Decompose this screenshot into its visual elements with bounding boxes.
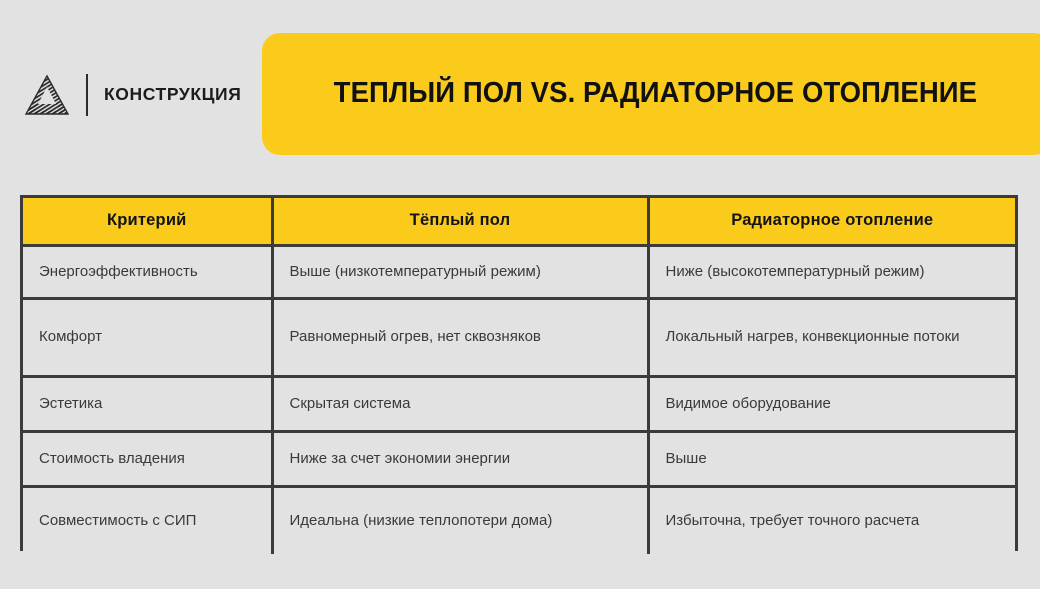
column-header-criterion: Критерий xyxy=(23,198,272,245)
cell-radiator: Локальный нагрев, конвекционные потоки xyxy=(648,298,1015,376)
cell-radiator: Видимое оборудование xyxy=(648,376,1015,431)
cell-radiator: Выше xyxy=(648,431,1015,486)
brand-name: КОНСТРУКЦИЯ xyxy=(104,86,241,104)
brand-divider xyxy=(86,74,88,116)
cell-criterion: Энергоэффективность xyxy=(23,245,272,298)
cell-underfloor: Ниже за счет экономии энергии xyxy=(272,431,648,486)
table-row: Энергоэффективность Выше (низкотемперату… xyxy=(23,245,1015,298)
page-title: ТЕПЛЫЙ ПОЛ VS. РАДИАТОРНОЕ ОТОПЛЕНИЕ xyxy=(333,78,976,109)
comparison-table-container: Критерий Тёплый пол Радиаторное отоплени… xyxy=(20,195,1018,551)
cell-criterion: Эстетика xyxy=(23,376,272,431)
table-row: Эстетика Скрытая система Видимое оборудо… xyxy=(23,376,1015,431)
comparison-table: Критерий Тёплый пол Радиаторное отоплени… xyxy=(23,198,1015,554)
cell-criterion: Стоимость владения xyxy=(23,431,272,486)
triangle-hatch-logo-icon xyxy=(24,74,70,116)
cell-underfloor: Выше (низкотемпературный режим) xyxy=(272,245,648,298)
table-header-row: Критерий Тёплый пол Радиаторное отоплени… xyxy=(23,198,1015,245)
cell-criterion: Комфорт xyxy=(23,298,272,376)
title-banner: ТЕПЛЫЙ ПОЛ VS. РАДИАТОРНОЕ ОТОПЛЕНИЕ xyxy=(262,33,1040,155)
cell-radiator: Ниже (высокотемпературный режим) xyxy=(648,245,1015,298)
column-header-radiator: Радиаторное отопление xyxy=(648,198,1015,245)
table-row: Комфорт Равномерный огрев, нет сквозняко… xyxy=(23,298,1015,376)
table-row: Совместимость с СИП Идеальна (низкие теп… xyxy=(23,486,1015,554)
column-header-underfloor: Тёплый пол xyxy=(272,198,648,245)
page-header: КОНСТРУКЦИЯ ТЕПЛЫЙ ПОЛ VS. РАДИАТОРНОЕ О… xyxy=(0,0,1040,175)
cell-radiator: Избыточна, требует точного расчета xyxy=(648,486,1015,554)
cell-criterion: Совместимость с СИП xyxy=(23,486,272,554)
cell-underfloor: Идеальна (низкие теплопотери дома) xyxy=(272,486,648,554)
table-row: Стоимость владения Ниже за счет экономии… xyxy=(23,431,1015,486)
cell-underfloor: Скрытая система xyxy=(272,376,648,431)
cell-underfloor: Равномерный огрев, нет сквозняков xyxy=(272,298,648,376)
brand-lockup: КОНСТРУКЦИЯ xyxy=(24,72,241,118)
